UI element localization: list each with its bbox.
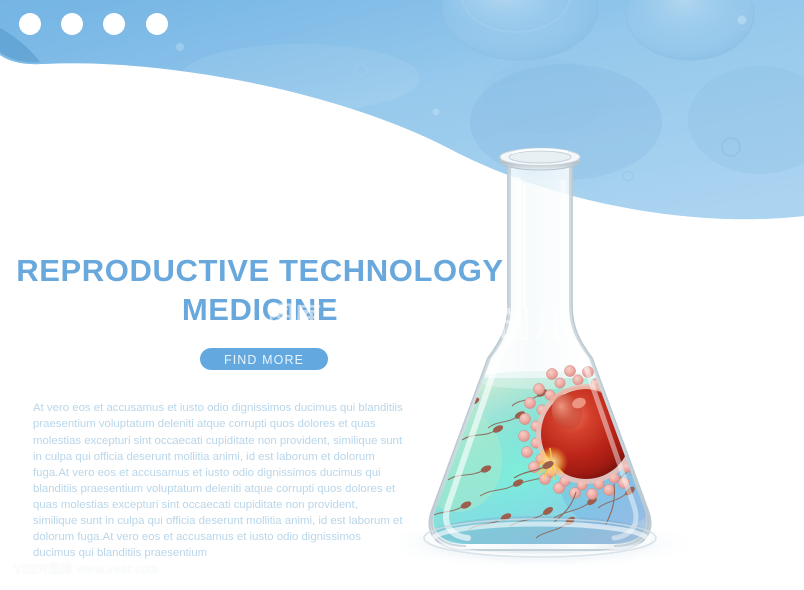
page-title: REPRODUCTIVE TECHNOLOGY MEDICINE [0, 251, 520, 329]
header-dot-4 [146, 13, 168, 35]
body-paragraph: At vero eos et accusamus et iusto odio d… [33, 400, 405, 561]
headline-line-2: MEDICINE [0, 290, 520, 329]
headline-line-1: REPRODUCTIVE TECHNOLOGY [16, 253, 503, 288]
find-more-button[interactable]: FIND MORE [200, 348, 328, 370]
watermark-credit: VEER图库 www.veer.com [14, 560, 159, 577]
erlenmeyer-flask-illustration [400, 140, 804, 570]
header-dot-2 [61, 13, 83, 35]
header-dot-3 [103, 13, 125, 35]
poster-canvas: REPRODUCTIVE TECHNOLOGY MEDICINE 图库 创儿 F… [0, 0, 804, 590]
header-dot-1 [19, 13, 41, 35]
